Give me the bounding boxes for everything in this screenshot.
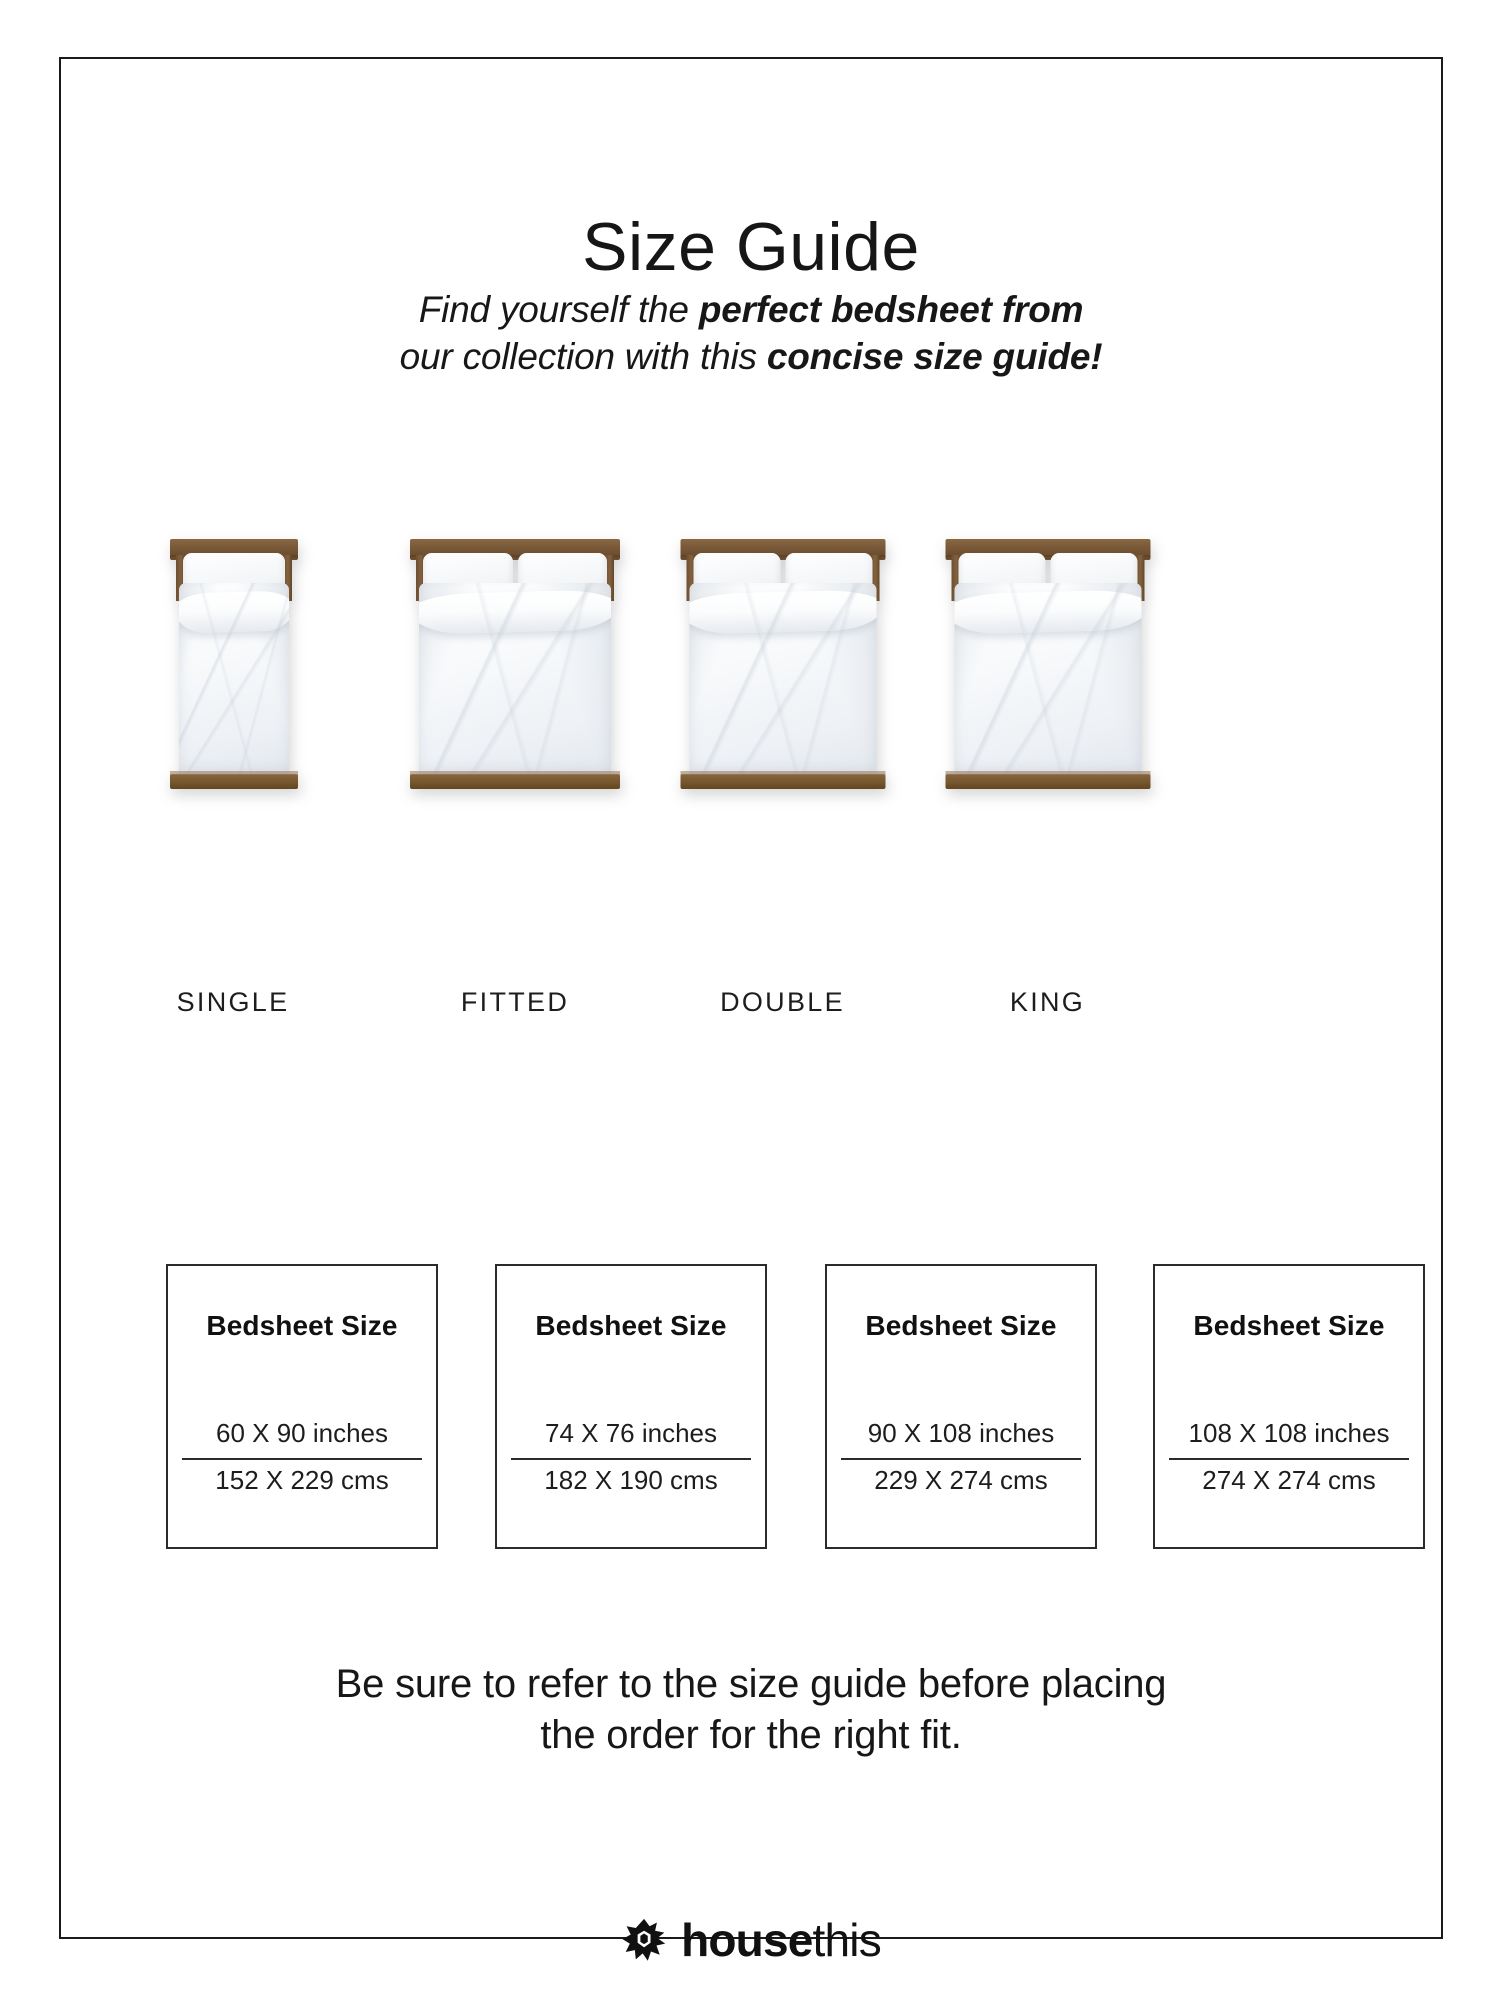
size-box-cms: 229 X 274 cms [841,1465,1081,1496]
size-box-double: Bedsheet Size 90 X 108 inches 229 X 274 … [825,1264,1097,1549]
size-box-inches: 108 X 108 inches [1169,1418,1409,1460]
bed-illustration-king [945,539,1150,789]
bed-label-fitted: FITTED [420,987,610,1018]
duvet-icon [689,583,876,776]
size-box-heading: Bedsheet Size [1155,1310,1423,1342]
size-box-inches: 90 X 108 inches [841,1418,1081,1460]
size-box-inches: 60 X 90 inches [182,1418,422,1460]
bed-graphic [170,539,298,789]
subtitle-line2-plain: our collection with this [400,336,767,377]
size-box-inches: 74 X 76 inches [511,1418,751,1460]
footboard-rail-icon [945,774,1150,789]
size-box-single: Bedsheet Size 60 X 90 inches 152 X 229 c… [166,1264,438,1549]
page-subtitle: Find yourself the perfect bedsheet from … [191,287,1311,381]
bed-graphic [410,539,620,789]
footer-note-line2: the order for the right fit. [540,1713,961,1757]
bed-graphic [680,539,885,789]
size-box-heading: Bedsheet Size [827,1310,1095,1342]
duvet-icon [419,583,611,776]
page-title: Size Guide [61,213,1441,281]
size-box-fitted: Bedsheet Size 74 X 76 inches 182 X 190 c… [495,1264,767,1549]
duvet-icon [954,583,1141,776]
footboard-rail-icon [680,774,885,789]
size-box-king: Bedsheet Size 108 X 108 inches 274 X 274… [1153,1264,1425,1549]
size-box-cms: 274 X 274 cms [1169,1465,1409,1496]
size-box-cms: 182 X 190 cms [511,1465,751,1496]
page-border-frame: Size Guide Find yourself the perfect bed… [59,57,1443,1939]
brand-name-bold: house [681,1914,812,1966]
subtitle-line2-bold: concise size guide! [767,336,1102,377]
footboard-rail-icon [170,774,298,789]
brand-logo: housethis [621,1917,881,1963]
size-box-heading: Bedsheet Size [168,1310,436,1342]
duvet-icon [179,583,289,776]
subtitle-line1-bold: perfect bedsheet from [699,289,1083,330]
bed-illustration-double [680,539,885,789]
size-guide-page: Size Guide Find yourself the perfect bed… [0,0,1500,2000]
size-box-cms: 152 X 229 cms [182,1465,422,1496]
footer-note: Be sure to refer to the size guide befor… [181,1659,1321,1761]
bed-illustration-row [120,489,1500,789]
bed-graphic [945,539,1150,789]
size-box-heading: Bedsheet Size [497,1310,765,1342]
bed-label-double: DOUBLE [685,987,880,1018]
brand-name-light: this [813,1914,881,1966]
bed-illustration-single [170,539,298,789]
size-box-row: Bedsheet Size 60 X 90 inches 152 X 229 c… [120,1264,1500,1554]
subtitle-line1-plain: Find yourself the [419,289,699,330]
footer-note-line1: Be sure to refer to the size guide befor… [336,1662,1167,1706]
bed-illustration-fitted [410,539,620,789]
bed-label-king: KING [950,987,1145,1018]
pinwheel-icon [621,1917,667,1963]
bed-label-single: SINGLE [148,987,318,1018]
footboard-rail-icon [410,774,620,789]
brand-name: housethis [681,1917,881,1963]
bed-label-row: SINGLE FITTED DOUBLE KING [120,987,1500,1027]
